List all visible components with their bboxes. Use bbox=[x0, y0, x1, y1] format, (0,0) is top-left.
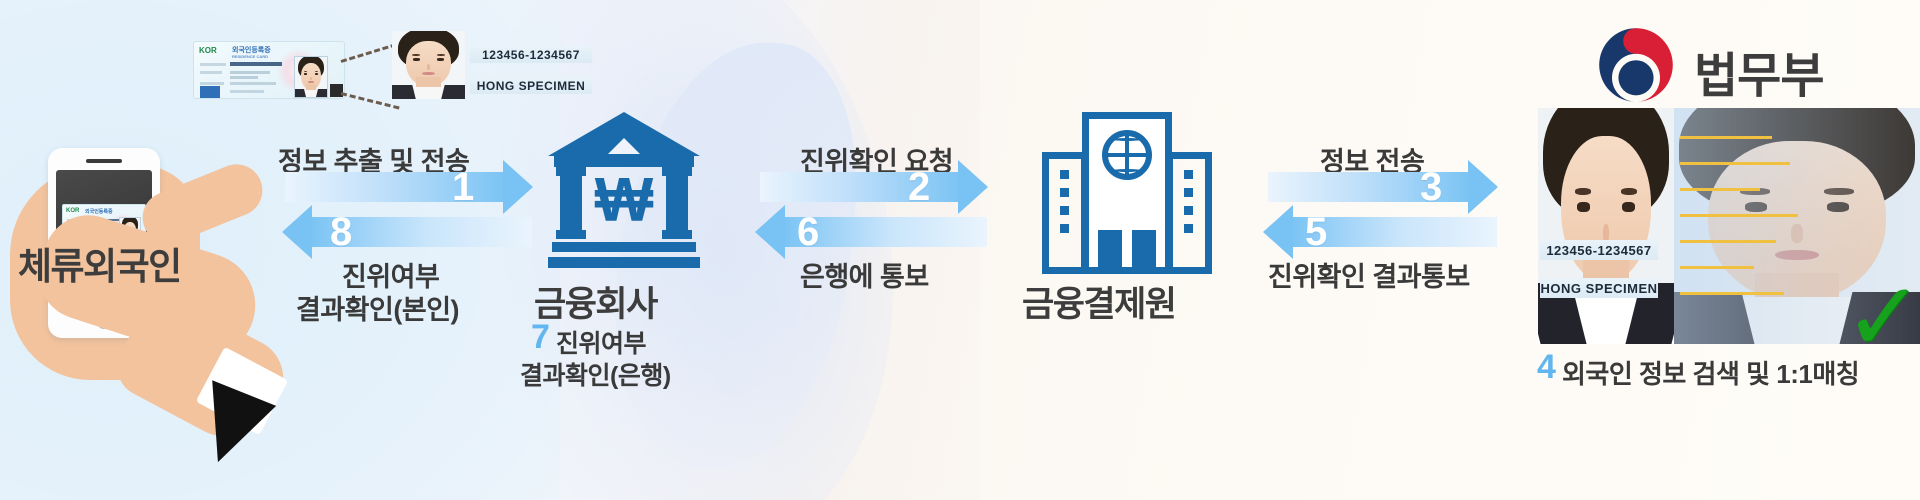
node-label-resident-foreigner: 체류외국인 bbox=[18, 236, 181, 290]
flow-arrow-8: 8 bbox=[282, 205, 532, 259]
flow-label-5: 진위확인 결과통보 bbox=[1268, 255, 1470, 294]
id-card-country-code: KOR bbox=[199, 46, 217, 55]
node-label-ministry-of-justice: 법무부 bbox=[1694, 36, 1823, 106]
match-registration-number: 123456-1234567 bbox=[1540, 240, 1658, 260]
database-portrait-photo bbox=[1538, 108, 1674, 344]
diagram-canvas: KOR 외국인등록증 bbox=[0, 0, 1920, 500]
enlarged-portrait-photo bbox=[392, 31, 465, 99]
step-4-label: 외국인 정보 검색 및 1:1매칭 bbox=[1562, 354, 1859, 391]
step-number-7: 7 bbox=[531, 318, 550, 357]
taegeuk-logo-icon bbox=[1596, 25, 1676, 105]
flow-label-8-line2: 결과확인(본인) bbox=[296, 288, 459, 327]
node-label-kftc: 금융결제원 bbox=[1022, 276, 1176, 327]
flow-number-8: 8 bbox=[330, 207, 352, 257]
id-card-large: KOR 외국인등록증 RESIDENCE CARD bbox=[193, 41, 345, 99]
step-7-label-line2: 결과확인(은행) bbox=[520, 356, 671, 392]
flow-number-6: 6 bbox=[797, 207, 819, 257]
flow-number-5: 5 bbox=[1305, 207, 1327, 257]
node-label-financial-company: 금융회사 bbox=[534, 276, 657, 327]
step-7-label-line1: 진위여부 bbox=[556, 324, 646, 360]
flow-label-6: 은행에 통보 bbox=[800, 255, 929, 294]
office-building-globe-icon bbox=[1042, 112, 1212, 277]
step-number-4: 4 bbox=[1537, 348, 1556, 387]
match-name: HONG SPECIMEN bbox=[1540, 278, 1658, 298]
won-symbol: ₩ bbox=[594, 172, 654, 230]
id-card-header-sub: RESIDENCE CARD bbox=[232, 54, 268, 59]
flow-arrow-5: 5 bbox=[1263, 205, 1497, 259]
suit-sleeve bbox=[212, 376, 280, 462]
flow-arrow-6: 6 bbox=[755, 205, 987, 259]
extracted-registration-number: 123456-1234567 bbox=[470, 46, 592, 63]
id-card-portrait bbox=[294, 56, 328, 98]
phone-speaker bbox=[86, 159, 122, 163]
face-matching-panel: 123456-1234567 HONG SPECIMEN ✓ bbox=[1538, 108, 1920, 344]
extracted-name: HONG SPECIMEN bbox=[470, 77, 592, 94]
bank-won-icon: ₩ bbox=[548, 112, 700, 272]
green-checkmark-icon: ✓ bbox=[1844, 270, 1920, 344]
